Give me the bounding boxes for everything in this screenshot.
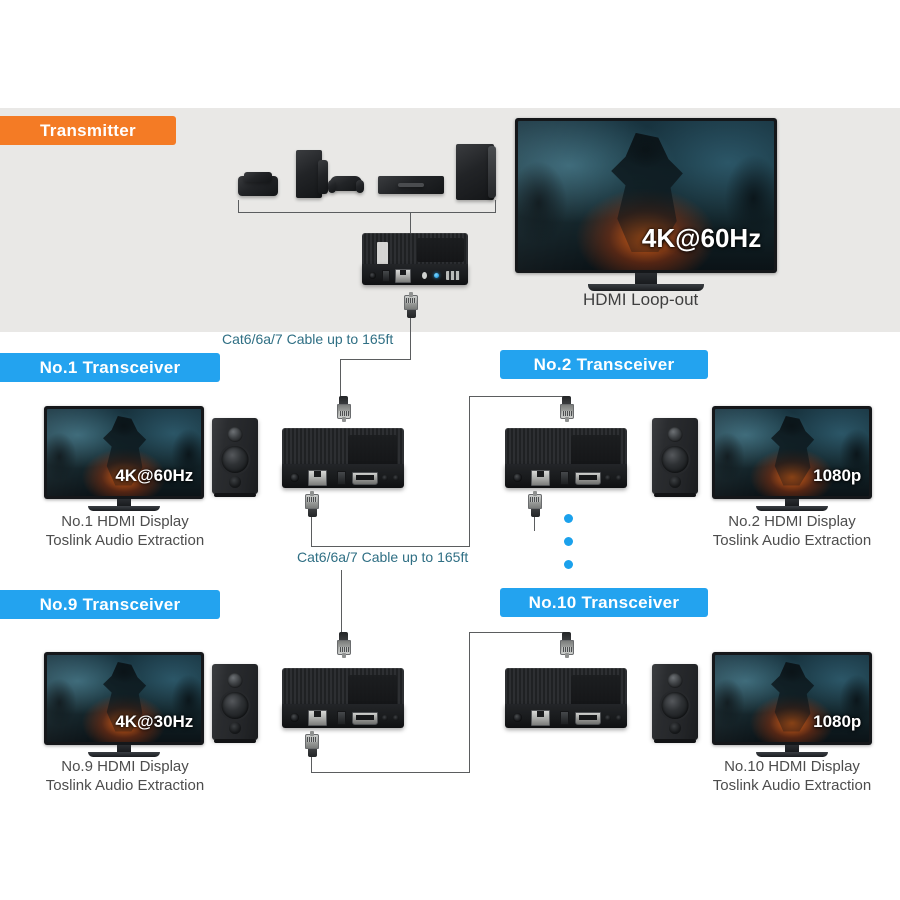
cable-no9-to-no10-horizontal [311,772,470,773]
speaker-no10 [652,664,698,740]
transmitter-display: 4K@60Hz [515,118,777,273]
cable-no10-horizontal [469,632,568,633]
rj45-plug-no1-out [305,494,319,517]
display-no10: 1080p [712,652,872,745]
transmitter-unit [362,233,468,285]
resolution-label-no1: 4K@60Hz [115,466,193,486]
cable-no1-to-no2-horizontal [311,546,470,547]
cable-label-top: Cat6/6a/7 Cable up to 165ft [222,331,393,347]
badge-transceiver-no1: No.1 Transceiver [0,353,220,382]
rj45-plug-no10-in [560,632,574,655]
cable-no2-out [534,517,535,531]
cable-tx-down-no1 [340,359,341,398]
source-device-streaming-box [236,170,280,198]
source-device-game-console [296,150,364,198]
cable-no10-riser [469,632,470,773]
display-no2: 1080p [712,406,872,499]
rj45-plug-no2-out [528,494,542,517]
cable-tx-horizontal [340,359,411,360]
cable-to-no9 [341,570,342,632]
badge-transceiver-no2: No.2 Transceiver [500,350,708,379]
source-bracket-horizontal [238,212,496,213]
cable-no2-horizontal [469,396,568,397]
receiver-unit-no2 [505,428,627,488]
rj45-plug-no2-in [560,396,574,419]
source-device-pc-tower [456,144,498,200]
caption-no2: No.2 HDMI Display Toslink Audio Extracti… [697,512,887,550]
diagram-canvas: Transmitter [0,0,900,900]
speaker-no1 [212,418,258,494]
chain-continuation-dots [564,514,573,583]
rj45-plug-transmitter-out [404,295,418,318]
resolution-label-no2: 1080p [813,466,861,486]
badge-transmitter: Transmitter [0,116,176,145]
resolution-label-loopout: 4K@60Hz [642,223,761,254]
rj45-plug-no9-out [305,734,319,757]
source-to-transmitter-wire [410,212,411,234]
display-no9: 4K@30Hz [44,652,204,745]
hdmi-loop-out-caption: HDMI Loop-out [583,290,698,310]
cable-no2-riser [469,396,470,546]
receiver-unit-no10 [505,668,627,728]
speaker-no9 [212,664,258,740]
source-bracket-left [238,200,239,213]
source-bracket-right [495,200,496,213]
receiver-unit-no1 [282,428,404,488]
rj45-plug-no1-in [337,396,351,419]
badge-transceiver-no10: No.10 Transceiver [500,588,708,617]
rj45-plug-no9-in [337,632,351,655]
source-device-blu-ray-player [378,176,444,198]
badge-transceiver-no9: No.9 Transceiver [0,590,220,619]
cable-label-middle: Cat6/6a/7 Cable up to 165ft [297,549,468,565]
resolution-label-no9: 4K@30Hz [115,712,193,732]
display-no1: 4K@60Hz [44,406,204,499]
speaker-no2 [652,418,698,494]
caption-no9: No.9 HDMI Display Toslink Audio Extracti… [30,757,220,795]
cable-no9-out-vertical [311,757,312,773]
caption-no10: No.10 HDMI Display Toslink Audio Extract… [697,757,887,795]
cable-tx-vertical [410,318,411,360]
caption-no1: No.1 HDMI Display Toslink Audio Extracti… [30,512,220,550]
receiver-unit-no9 [282,668,404,728]
cable-no1-out-vertical [311,517,312,547]
resolution-label-no10: 1080p [813,712,861,732]
